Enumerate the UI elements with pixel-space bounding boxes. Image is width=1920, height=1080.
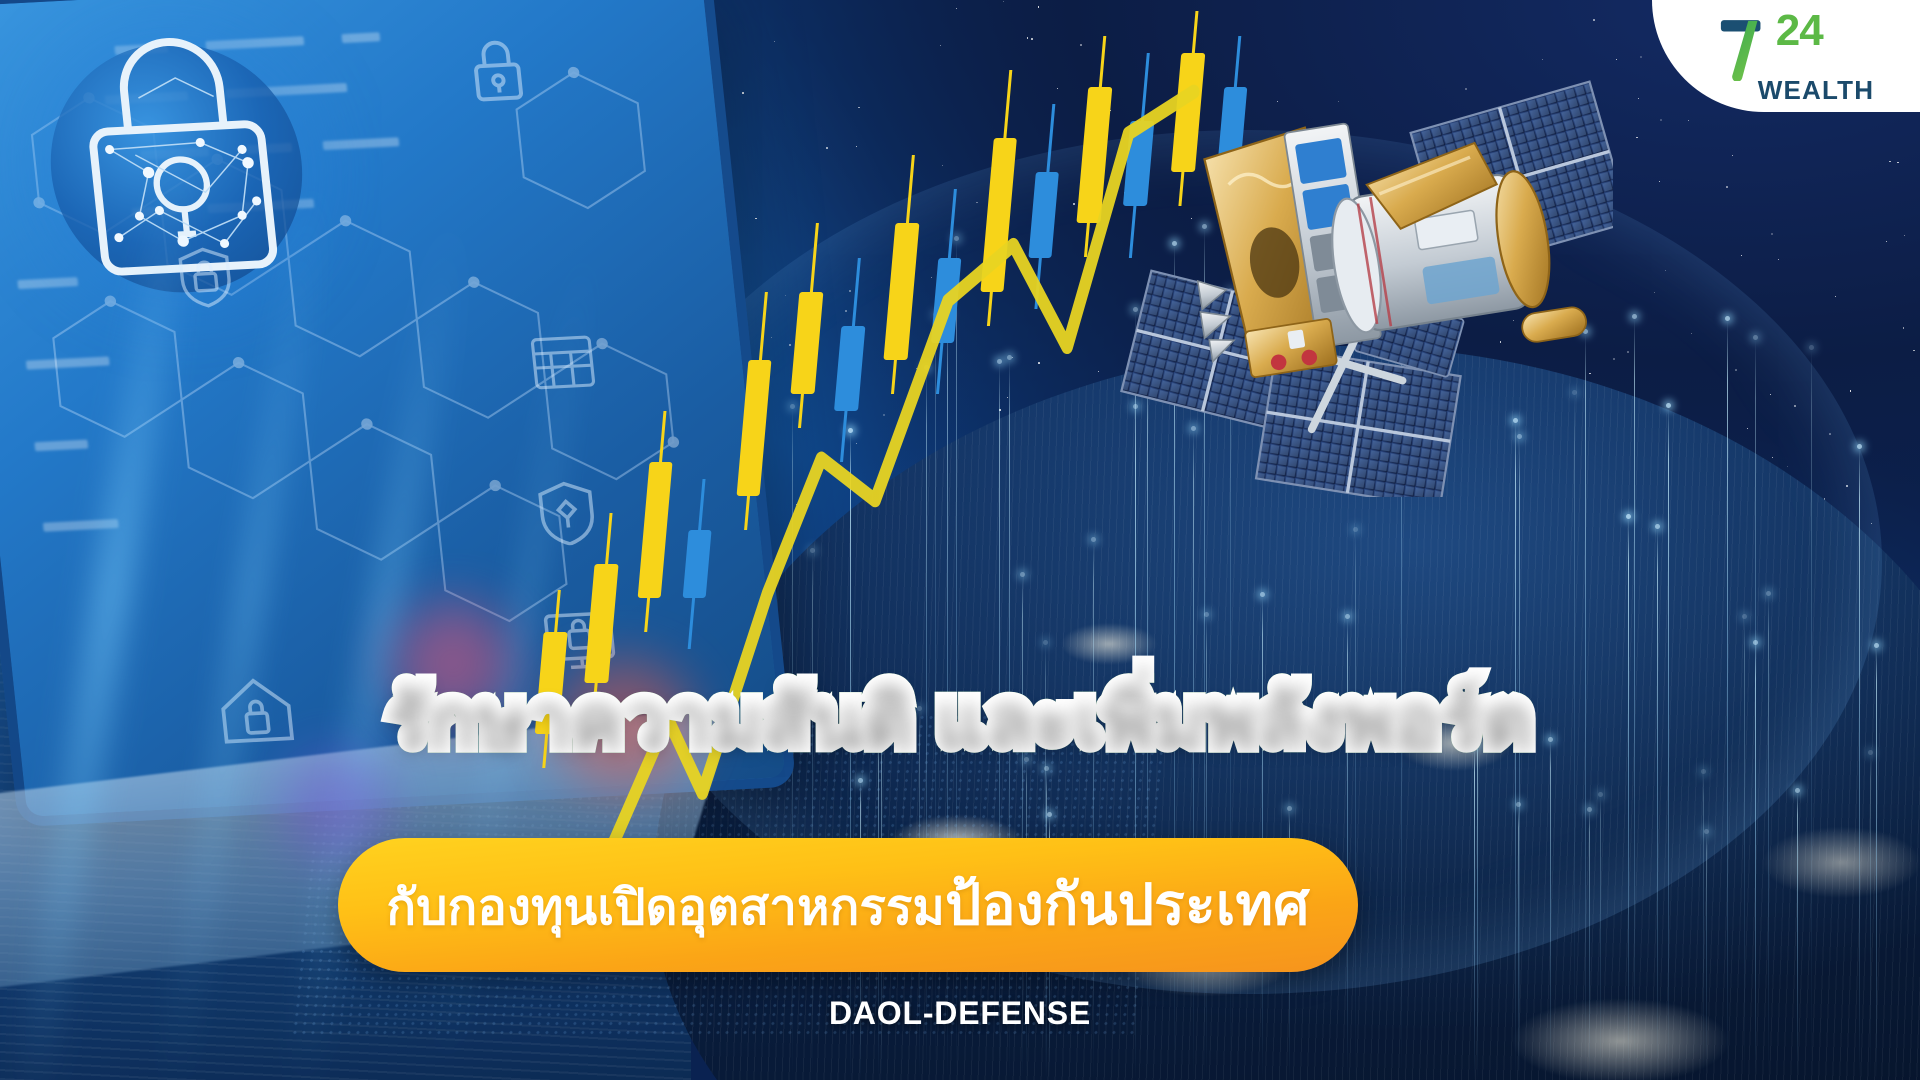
logo-wealth-text: WEALTH [1758, 75, 1874, 106]
subheadline-text: กับกองทุนเปิดอุตสาหกรรมป้องกันประเทศ [386, 860, 1309, 950]
fund-name-label: DAOL-DEFENSE [0, 995, 1920, 1032]
satellite-icon [1037, 43, 1613, 497]
subheadline-emphasis: ป้องกันประเทศ [945, 860, 1310, 950]
page-title: รักษาความสันติ และเพิ่มพลังพอร์ต [0, 678, 1920, 756]
subheadline-prefix: กับกองทุนเปิดอุตสาหกรรม [386, 868, 945, 946]
headline-text: รักษาความสันติ และเพิ่มพลังพอร์ต [387, 673, 1533, 761]
logo-24-text: 24 [1776, 11, 1823, 51]
banner-canvas: 24 WEALTH รักษาความสันติ และเพิ่มพลังพอร… [0, 0, 1920, 1080]
subheadline-pill: กับกองทุนเปิดอุตสาหกรรมป้องกันประเทศ [338, 838, 1358, 972]
logo-seven-icon [1718, 11, 1774, 81]
padlock-network-icon [52, 13, 306, 285]
shield-lock-icon [174, 244, 238, 311]
